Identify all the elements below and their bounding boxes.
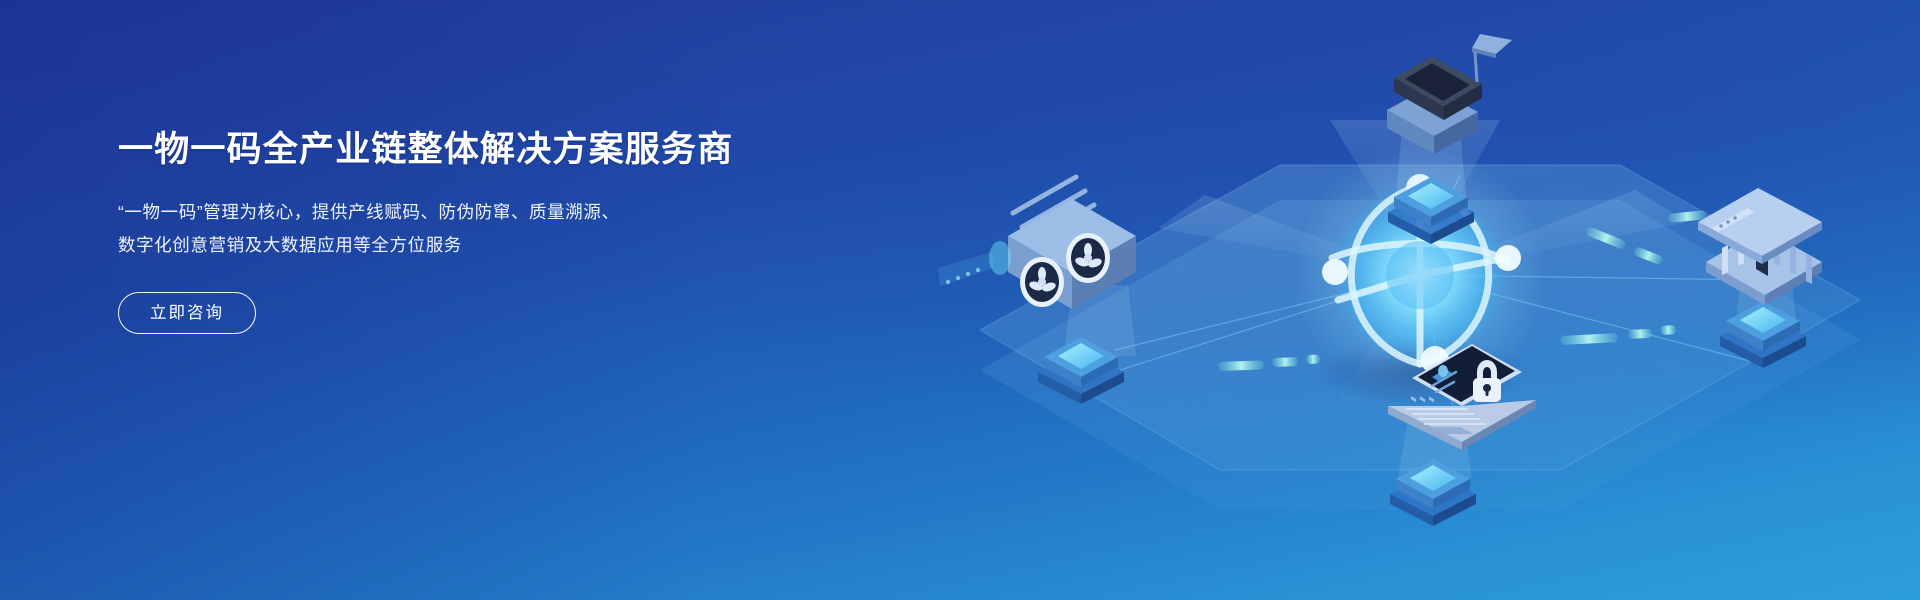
page-title: 一物一码全产业链整体解决方案服务商 <box>118 128 878 172</box>
hero-copy-block: 一物一码全产业链整体解决方案服务商 “一物一码”管理为核心，提供产线赋码、防伪防… <box>118 128 878 334</box>
subtitle-line-2: 数字化创意营销及大数据应用等全方位服务 <box>118 229 878 262</box>
signal-emitter <box>938 241 1011 286</box>
hero-banner: 一物一码全产业链整体解决方案服务商 “一物一码”管理为核心，提供产线赋码、防伪防… <box>0 0 1920 600</box>
hero-illustration <box>860 0 1920 600</box>
hero-subtitle: “一物一码”管理为核心，提供产线赋码、防伪防窜、质量溯源、 数字化创意营销及大数… <box>118 196 878 262</box>
cooling-fan-icon-2 <box>1066 233 1110 283</box>
cooling-fan-icon <box>1020 257 1064 307</box>
subtitle-line-1: “一物一码”管理为核心，提供产线赋码、防伪防窜、质量溯源、 <box>118 196 878 229</box>
cta-container: 立即咨询 <box>118 292 878 334</box>
consult-now-button[interactable]: 立即咨询 <box>118 292 256 334</box>
